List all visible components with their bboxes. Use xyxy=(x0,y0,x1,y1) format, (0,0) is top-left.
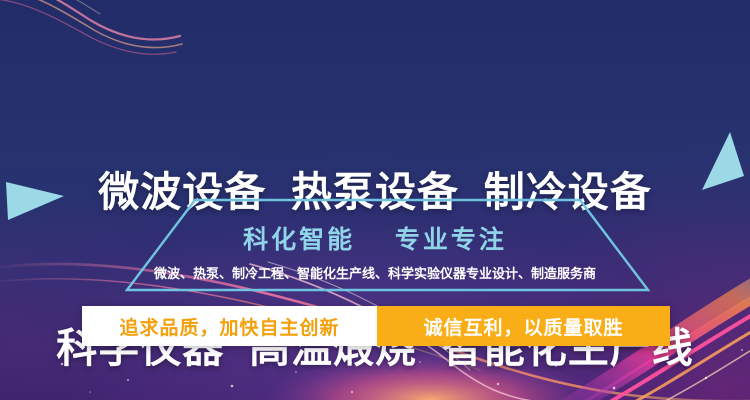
slogan-bar-integrity: 诚信互利，以质量取胜 xyxy=(377,306,670,346)
center-subtitle: 微波、热泵、制冷工程、智能化生产线、科学实验仪器专业设计、制造服务商 xyxy=(0,263,750,282)
right-arrow-triangle-icon xyxy=(700,132,744,218)
center-slogan: 科化智能 专业专注 xyxy=(0,220,750,256)
slogan-bars: 追求品质，加快自主创新 诚信互利，以质量取胜 xyxy=(82,306,670,346)
promo-banner: 微波设备 热泵设备 制冷设备 科学仪器 高温煅烧 智能化生产线 科化智能 专业专… xyxy=(0,0,750,400)
slogan-bar-quality: 追求品质，加快自主创新 xyxy=(82,306,377,346)
left-arrow-triangle-icon xyxy=(6,176,68,222)
